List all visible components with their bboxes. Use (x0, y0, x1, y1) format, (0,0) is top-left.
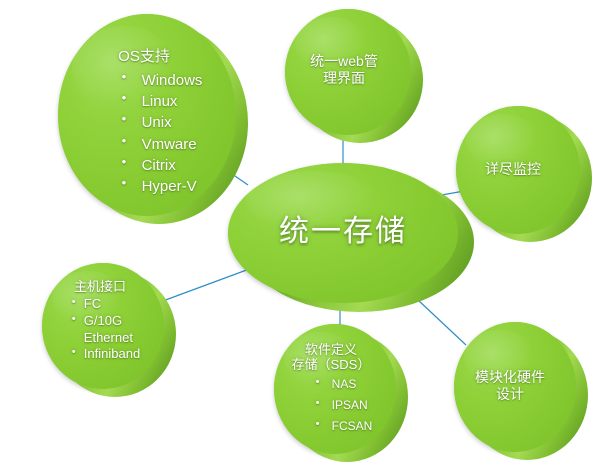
node-title-line-2: 存储（SDS） (274, 357, 404, 372)
bullet-item: Infiniband (72, 346, 140, 363)
bullet-item: Citrix (122, 155, 203, 176)
center-title: 统一存储 (279, 214, 407, 249)
node-title-line-1: 详尽监控 (485, 161, 541, 178)
bullet-item: FCSAN (316, 416, 373, 437)
node-title-line-1: 软件定义 (274, 342, 404, 357)
node-unified-storage[interactable]: 统一存储 (228, 163, 458, 303)
node-unified-web-management[interactable]: 统一web管 理界面 (285, 9, 411, 135)
node-os-support[interactable]: OS支持 Windows Linux Unix Vmware Citrix Hy… (58, 14, 236, 216)
node-title-line-1: 模块化硬件 (475, 369, 545, 386)
node-label: 主机接口 FC G/10G Ethernet Infiniband (42, 263, 164, 389)
bullet-item: IPSAN (316, 395, 373, 416)
node-label: 模块化硬件 设计 (454, 322, 576, 452)
bullet-item: FC (72, 296, 140, 313)
bullet-item: G/10G (72, 313, 140, 330)
node-title: 主机接口 (41, 279, 169, 294)
bullet-item: Unix (122, 112, 203, 133)
node-title-line-1: 统一web管 (310, 53, 378, 70)
unified-storage-diagram: 统一存储 OS支持 Windows Linux Unix Vmware Citr… (0, 0, 600, 468)
bullet-item: Linux (122, 91, 203, 112)
node-label: 统一web管 理界面 (285, 9, 411, 135)
node-software-defined-storage[interactable]: 软件定义 存储（SDS） NAS IPSAN FCSAN (274, 324, 396, 454)
node-label: 详尽监控 (456, 106, 580, 234)
bullet-item: Vmware (122, 134, 203, 155)
bullet-item: NAS (316, 374, 373, 395)
node-label: OS支持 Windows Linux Unix Vmware Citrix Hy… (58, 14, 236, 216)
node-label: 软件定义 存储（SDS） NAS IPSAN FCSAN (274, 324, 396, 454)
node-title-line-2: 设计 (496, 386, 524, 403)
node-label: 统一存储 (228, 163, 458, 303)
bullet-item-continuation: Ethernet (72, 330, 140, 347)
node-host-interface[interactable]: 主机接口 FC G/10G Ethernet Infiniband (42, 263, 164, 389)
node-modular-hardware-design[interactable]: 模块化硬件 设计 (454, 322, 576, 452)
node-bullet-list: Windows Linux Unix Vmware Citrix Hyper-V (108, 70, 203, 198)
bullet-item: Windows (122, 70, 203, 91)
node-bullet-list: NAS IPSAN FCSAN (306, 374, 373, 437)
node-title: OS支持 (63, 48, 247, 66)
bullet-item: Hyper-V (122, 176, 203, 197)
node-title-line-2: 理界面 (323, 70, 365, 87)
node-bullet-list: FC G/10G Ethernet Infiniband (70, 296, 140, 363)
node-detailed-monitoring[interactable]: 详尽监控 (456, 106, 580, 234)
